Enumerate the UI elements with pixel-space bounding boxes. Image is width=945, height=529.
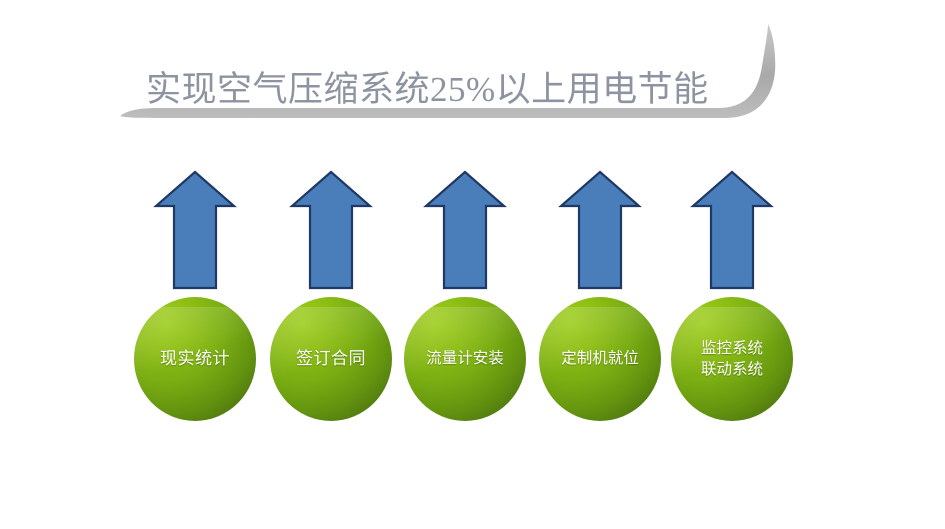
steps-row: 现实统计 签订合同 流量计安装 定 (0, 0, 945, 529)
step-circle-4[interactable]: 定制机就位 (539, 297, 661, 421)
up-arrow-icon (671, 168, 793, 292)
step-label-1: 现实统计 (156, 348, 234, 370)
step-2[interactable]: 签订合同 (270, 168, 392, 424)
step-circle-5[interactable]: 监控系统 联动系统 (671, 297, 793, 421)
up-arrow-icon (134, 168, 256, 292)
step-label-2: 签订合同 (292, 348, 370, 370)
slide-canvas: 实现空气压缩系统25%以上用电节能 现实统计 签订合同 (0, 0, 945, 529)
up-arrow-icon (539, 168, 661, 292)
step-circle-3[interactable]: 流量计安装 (404, 297, 526, 421)
step-3[interactable]: 流量计安装 (404, 168, 526, 424)
step-label-3: 流量计安装 (422, 348, 508, 370)
step-4[interactable]: 定制机就位 (539, 168, 661, 424)
step-5[interactable]: 监控系统 联动系统 (671, 168, 793, 424)
step-circle-2[interactable]: 签订合同 (270, 297, 392, 421)
step-1[interactable]: 现实统计 (134, 168, 256, 424)
step-circle-1[interactable]: 现实统计 (134, 297, 256, 421)
up-arrow-icon (404, 168, 526, 292)
step-label-5: 监控系统 联动系统 (697, 338, 767, 380)
step-label-4: 定制机就位 (557, 348, 643, 370)
up-arrow-icon (270, 168, 392, 292)
